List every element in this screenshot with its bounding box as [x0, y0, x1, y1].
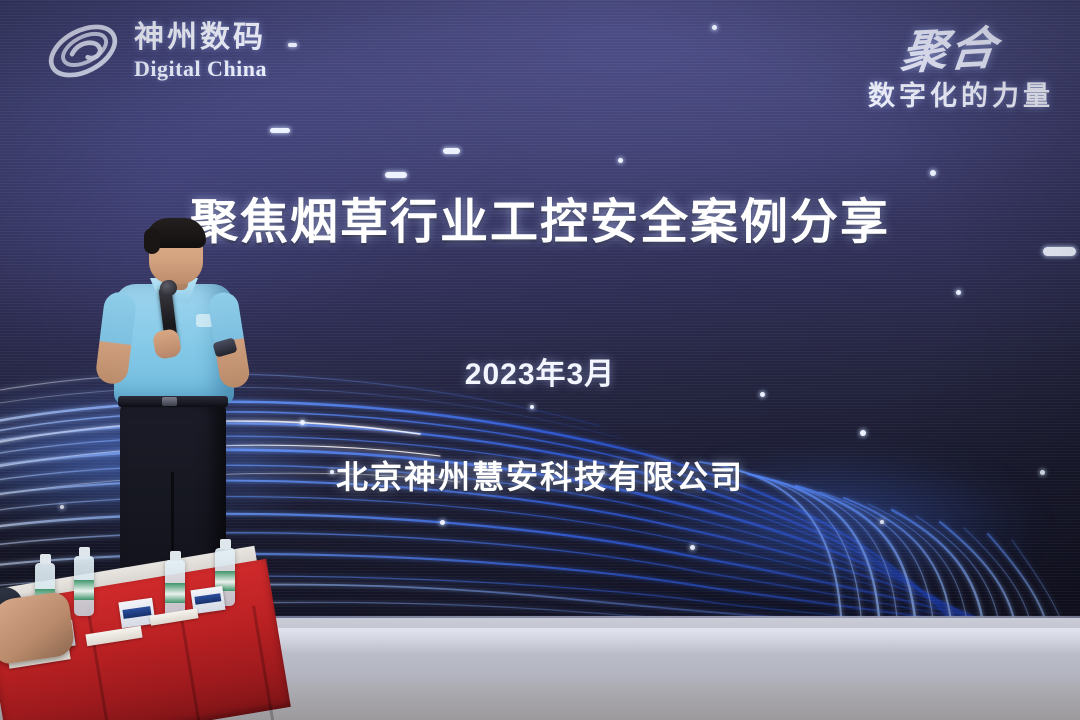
particle-dot — [930, 170, 936, 176]
bottle-label — [74, 580, 94, 600]
particle-dot — [530, 405, 534, 409]
logo-english-name: Digital China — [134, 58, 267, 80]
bottle-cap — [40, 554, 51, 564]
bottle-label — [165, 583, 185, 603]
belt-buckle — [162, 397, 177, 406]
speaker-hair-side — [144, 228, 160, 254]
particle-dot — [60, 505, 64, 509]
water-bottle — [165, 560, 185, 618]
particle-dot — [300, 420, 305, 425]
particle-dot — [712, 25, 717, 30]
brand-logo: 神州数码 Digital China — [44, 18, 267, 84]
particle-dash — [385, 172, 407, 178]
slogan-subtitle: 数字化的力量 — [868, 74, 1054, 113]
name-card-text-block — [123, 606, 151, 619]
particle-dot — [956, 290, 961, 295]
bottle-cap — [170, 551, 181, 561]
bottle-cap — [79, 547, 90, 557]
bottle-cap — [220, 539, 231, 549]
particle-dot — [860, 430, 866, 436]
digital-china-swirl-icon — [44, 18, 122, 84]
particle-dash — [270, 128, 290, 133]
particle-dot — [288, 43, 297, 47]
logo-chinese-name: 神州数码 — [134, 23, 267, 53]
particle-dot — [618, 158, 623, 163]
particle-dot — [880, 520, 884, 524]
particle-dot — [440, 520, 445, 525]
conference-photo: 神州数码 Digital China 聚合 数字化的力量 聚焦烟草行业工控安全案… — [0, 0, 1080, 720]
slogan-brush-text: 聚合 — [898, 12, 1002, 83]
name-card-text-block — [195, 593, 221, 605]
particle-dot — [690, 545, 695, 550]
particle-dash — [443, 148, 460, 154]
event-slogan: 聚合 数字化的力量 — [868, 14, 1054, 113]
water-bottle — [74, 556, 94, 616]
